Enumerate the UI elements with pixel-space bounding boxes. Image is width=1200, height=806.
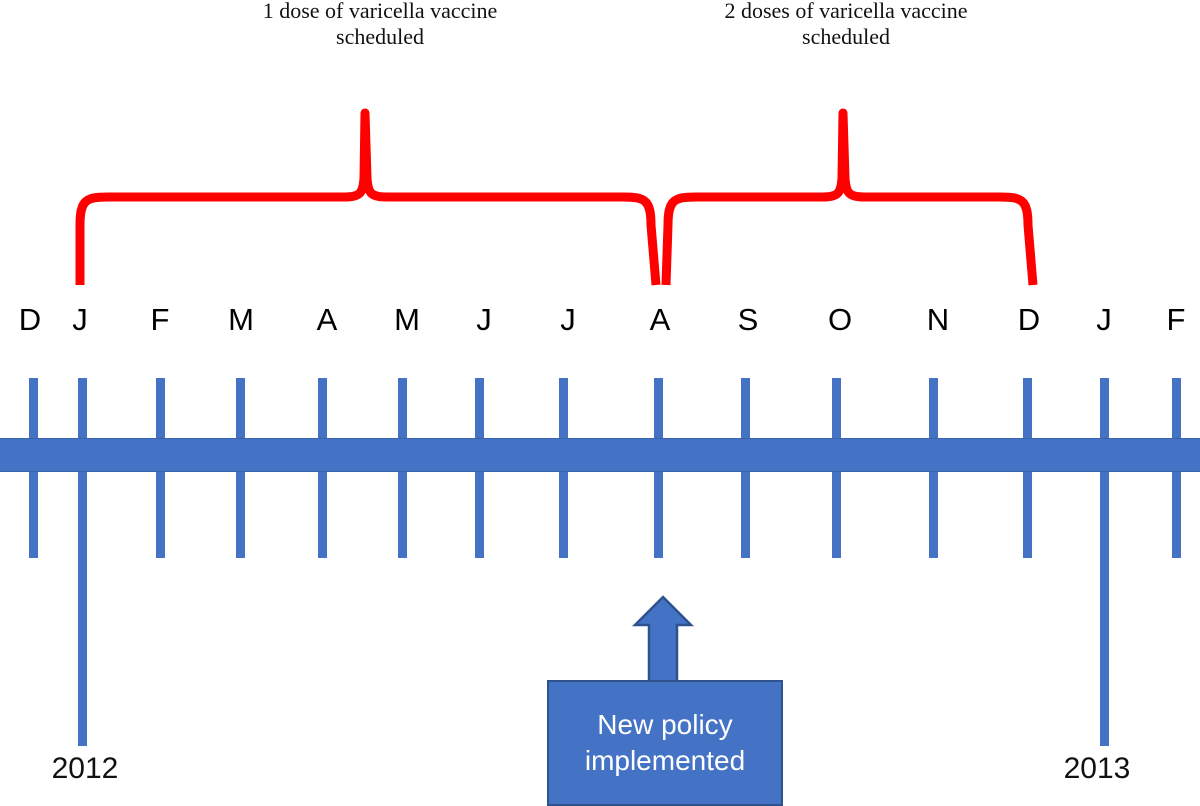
tick-upper-1 (78, 378, 87, 440)
brace-group (0, 0, 1200, 300)
tick-lower-10 (832, 470, 841, 558)
tick-upper-6 (475, 378, 484, 440)
tick-upper-11 (929, 378, 938, 440)
year-label-end: 2013 (1042, 752, 1152, 786)
tick-lower-2 (156, 470, 165, 558)
tick-lower-5 (398, 470, 407, 558)
tick-upper-9 (741, 378, 750, 440)
tick-lower-11 (929, 470, 938, 558)
new-policy-callout-box: New policy implemented (547, 680, 783, 806)
month-label-5: M (387, 302, 427, 338)
month-label-6: J (464, 302, 504, 338)
tick-lower-1 (78, 470, 87, 746)
month-label-9: S (728, 302, 768, 338)
tick-upper-3 (236, 378, 245, 440)
annotation-caption-two-doses: 2 doses of varicella vaccine scheduled (672, 0, 1020, 50)
timeline-figure: 1 dose of varicella vaccine scheduled 2 … (0, 0, 1200, 806)
tick-lower-9 (741, 470, 750, 558)
tick-lower-4 (318, 470, 327, 558)
timeline-bar (0, 438, 1200, 472)
tick-lower-7 (559, 470, 568, 558)
brace-left-icon (80, 113, 656, 285)
tick-upper-0 (29, 378, 38, 440)
annotation-caption-one-dose: 1 dose of varicella vaccine scheduled (198, 0, 562, 50)
tick-lower-13 (1100, 470, 1109, 746)
month-label-0: D (10, 302, 50, 338)
tick-upper-10 (832, 378, 841, 440)
brace-right-icon (666, 113, 1033, 285)
up-arrow-icon (632, 594, 694, 684)
tick-upper-12 (1023, 378, 1032, 440)
tick-upper-4 (318, 378, 327, 440)
tick-upper-13 (1100, 378, 1109, 440)
month-label-1: J (60, 302, 100, 338)
year-label-start: 2012 (30, 752, 140, 786)
tick-lower-6 (475, 470, 484, 558)
tick-upper-14 (1172, 378, 1181, 440)
month-label-12: D (1009, 302, 1049, 338)
month-label-10: O (820, 302, 860, 338)
month-label-14: F (1156, 302, 1196, 338)
tick-upper-8 (654, 378, 663, 440)
month-label-8: A (640, 302, 680, 338)
tick-lower-14 (1172, 470, 1181, 558)
month-label-3: M (221, 302, 261, 338)
tick-lower-8 (654, 470, 663, 558)
month-label-2: F (140, 302, 180, 338)
month-label-13: J (1084, 302, 1124, 338)
tick-lower-3 (236, 470, 245, 558)
tick-lower-12 (1023, 470, 1032, 558)
tick-lower-0 (29, 470, 38, 558)
new-policy-callout-label: New policy implemented (585, 707, 745, 779)
tick-upper-5 (398, 378, 407, 440)
tick-upper-2 (156, 378, 165, 440)
month-label-4: A (307, 302, 347, 338)
month-label-7: J (548, 302, 588, 338)
month-label-11: N (918, 302, 958, 338)
tick-upper-7 (559, 378, 568, 440)
